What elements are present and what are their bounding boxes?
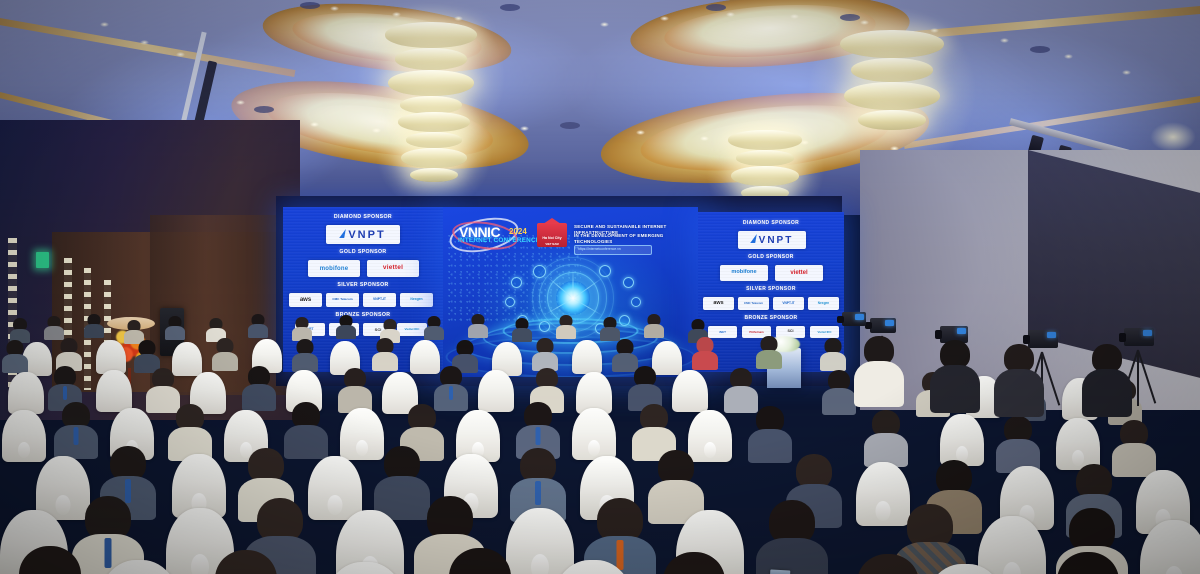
sponsor-logo-viettel: viettel (367, 260, 419, 277)
attendee (196, 550, 296, 574)
banquet-chair (572, 340, 602, 374)
attendee (822, 370, 856, 414)
chandelier (840, 26, 944, 154)
sponsor-logo-mobifone: mobifone (720, 265, 768, 281)
lanyard (617, 540, 624, 570)
attendee (0, 546, 100, 574)
lanyard (535, 481, 541, 505)
banquet-chair (96, 370, 132, 412)
network-node-icon (631, 297, 641, 307)
host-city-label: Ha Noi City (537, 236, 567, 240)
attendee (430, 548, 530, 574)
attendee (468, 314, 488, 338)
event-logo-year: 2024 (509, 227, 527, 236)
attendee (54, 402, 98, 458)
video-camera (842, 312, 866, 326)
video-camera (870, 318, 896, 333)
event-logo-subtitle: INTERNET CONFERENCE (458, 237, 540, 244)
sponsor-logo-viettel: viettel (775, 265, 823, 281)
sponsor-logo-cmc: CMC Telecom (738, 297, 769, 310)
conference-url-text: https://internetconference.vn (578, 247, 621, 251)
banquet-chair (940, 414, 984, 466)
attendee (168, 404, 212, 460)
tier-heading-gold: GOLD SPONSOR (283, 249, 443, 255)
network-node-icon (505, 297, 515, 307)
attendee (648, 450, 704, 522)
attendee (600, 317, 620, 341)
attendee (556, 315, 576, 339)
lanyard (74, 427, 79, 445)
tier-heading-diamond: DIAMOND SPONSOR (283, 214, 443, 220)
attendee (644, 314, 664, 338)
lanyard (536, 427, 541, 445)
attendee (44, 316, 64, 340)
attendee (84, 314, 104, 338)
sponsor-logo-nexgen: Nexgen (808, 297, 839, 310)
attendee (10, 318, 30, 342)
sponsor-logo-cmc: CMC Telecom (326, 293, 359, 307)
lanyard (63, 386, 67, 400)
banquet-chair (96, 340, 126, 374)
sponsor-logo-nexgen: Nexgen (400, 293, 433, 307)
sponsor-logo-aws: aws (289, 293, 322, 307)
attendee (424, 316, 444, 340)
attendee (338, 368, 372, 412)
attendee (644, 552, 744, 574)
attendee (512, 318, 532, 342)
press-photographer (854, 336, 904, 406)
attendee (996, 416, 1040, 472)
network-node-icon (533, 265, 546, 278)
exit-sign (36, 252, 49, 268)
tier-heading-gold: GOLD SPONSOR (698, 254, 844, 260)
sponsor-logo-vnpt: VNPT (738, 231, 806, 249)
attendee (532, 338, 558, 370)
host-country-label: VIET NAM (537, 242, 567, 246)
attendee (864, 410, 908, 466)
conference-url-bar: https://internetconference.vn (574, 245, 652, 255)
chandelier (398, 110, 470, 194)
network-node-icon (599, 265, 611, 277)
banquet-chair (572, 408, 616, 460)
attendee (165, 316, 185, 340)
press-photographer (1082, 344, 1132, 416)
attendee (692, 337, 718, 369)
press-photographer (930, 340, 980, 412)
attendee (2, 340, 28, 372)
attendee (756, 336, 782, 368)
banquet-chair (478, 370, 514, 412)
attendee (820, 338, 846, 370)
attendee (248, 314, 268, 338)
attendee (242, 366, 276, 410)
sponsor-logo-vnptit: VNPT-IT (363, 293, 396, 307)
laptop (770, 569, 791, 574)
banquet-chair (1056, 418, 1100, 470)
attendee (292, 317, 312, 341)
sponsor-logo-aws: aws (703, 297, 734, 310)
tier-heading-silver: SILVER SPONSOR (698, 286, 844, 292)
network-node-icon (623, 277, 634, 288)
tier-heading-diamond: DIAMOND SPONSOR (698, 220, 844, 226)
tagline-line-2: IN THE DEVELOPMENT OF EMERGING TECHNOLOG… (574, 233, 696, 245)
lanyard (449, 386, 453, 400)
banquet-chair (308, 456, 362, 520)
network-node-icon (511, 277, 522, 288)
banquet-chair (8, 372, 44, 414)
lanyard (105, 538, 112, 568)
sponsor-logo-mobifone: mobifone (308, 260, 360, 277)
attendee (372, 338, 398, 370)
banquet-chair (2, 410, 46, 462)
press-photographer (994, 344, 1044, 416)
banquet-chair (672, 370, 708, 412)
sponsor-logo-vnptit: VNPT-IT (773, 297, 804, 310)
host-city-badge: Ha Noi City VIET NAM (537, 223, 567, 247)
attendee (1038, 552, 1138, 574)
attendee (292, 339, 318, 371)
attendee (212, 338, 238, 370)
sponsor-logo-vnpt: VNPT (326, 225, 400, 244)
attendee (336, 315, 356, 339)
tier-heading-silver: SILVER SPONSOR (283, 282, 443, 288)
attendee (838, 554, 938, 574)
attendee (756, 500, 828, 574)
conference-hall-photo: DIAMOND SPONSOR VNPT GOLD SPONSOR mobifo… (0, 0, 1200, 574)
